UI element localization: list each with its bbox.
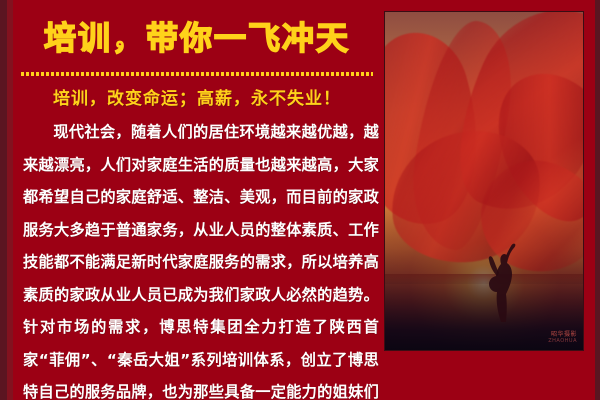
left-edge-stripe bbox=[0, 0, 7, 400]
poster-body-paragraph: 现代社会，随着人们的居住环境越来越优越，越来越漂亮，人们对家庭生活的质量也越来越… bbox=[23, 116, 379, 400]
gold-dashed-divider bbox=[21, 72, 373, 76]
dancer-silhouette-icon bbox=[477, 236, 525, 322]
watermark-line-2: ZHAOHUA bbox=[548, 338, 577, 345]
right-edge-stripe bbox=[595, 0, 600, 400]
text-column: 培训，带你一飞冲天 培训，改变命运；高薪，永不失业！ 现代社会，随着人们的居住环… bbox=[13, 0, 381, 400]
poster-headline: 培训，带你一飞冲天 bbox=[13, 16, 381, 60]
photo-watermark: 昭华摄影 ZHAOHUA bbox=[548, 331, 577, 345]
poster-subheadline: 培训，改变命运；高薪，永不失业！ bbox=[13, 84, 381, 109]
photo-frame: 昭华摄影 ZHAOHUA bbox=[385, 12, 583, 350]
poster-canvas: 培训，带你一飞冲天 培训，改变命运；高薪，永不失业！ 现代社会，随着人们的居住环… bbox=[0, 0, 600, 400]
sunset-dancer-photo: 昭华摄影 ZHAOHUA bbox=[385, 12, 583, 350]
watermark-line-1: 昭华摄影 bbox=[548, 331, 577, 338]
